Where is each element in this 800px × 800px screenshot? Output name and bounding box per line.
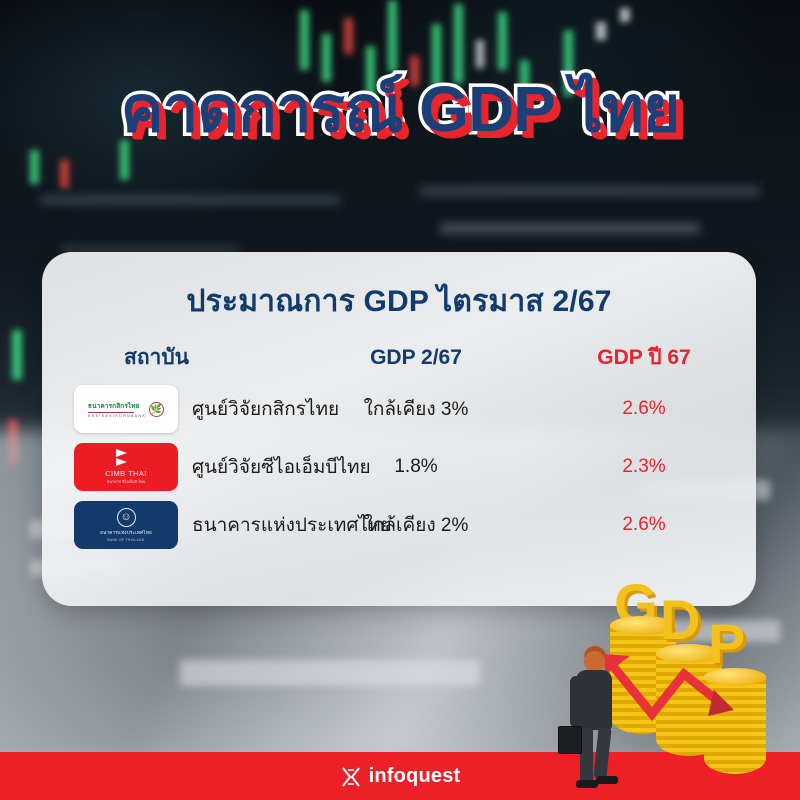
bot-logo-text-en: BANK OF THAILAND [108, 538, 145, 542]
cimb-thai-logo: CIMB THAI ธนาคาร ซีไอเอ็มบี ไทย [74, 443, 178, 491]
institution-name: ศูนย์วิจัยกสิกรไทย [192, 394, 339, 424]
cimb-logo-subtext: ธนาคาร ซีไอเอ็มบี ไทย [107, 479, 145, 485]
table-row: ☺ ธนาคารแห่งประเทศไทย BANK OF THAILAND ธ… [42, 496, 756, 554]
gdp-coins-illustration: G D P [556, 578, 800, 800]
page-title: คาดการณ์ GDP ไทย [0, 76, 800, 143]
institution-cell: CIMB THAI ธนาคาร ซีไอเอ็มบี ไทย ศูนย์วิจ… [74, 443, 300, 491]
gdp-forecast-card: ประมาณการ GDP ไตรมาส 2/67 สถาบัน GDP 2/6… [42, 252, 756, 606]
x-mark-svg [340, 766, 362, 788]
cimb-chevron-icon [116, 449, 136, 466]
table-row: CIMB THAI ธนาคาร ซีไอเอ็มบี ไทย ศูนย์วิจ… [42, 438, 756, 496]
card-title: ประมาณการ GDP ไตรมาส 2/67 [42, 278, 756, 325]
suit-arm [570, 676, 582, 728]
bot-seal-icon: ☺ [117, 508, 136, 527]
infoquest-x-icon [340, 766, 362, 788]
gdp-year-value: 2.6% [532, 380, 756, 438]
leg [593, 727, 611, 778]
briefcase [558, 726, 582, 754]
infographic-canvas: คาดการณ์ GDP ไทย ประมาณการ GDP ไตรมาส 2/… [0, 0, 800, 800]
gdp-forecast-table: สถาบัน GDP 2/67 GDP ปี 67 ธนาคารกสิกรไทย [42, 341, 756, 554]
institution-cell: ธนาคารกสิกรไทย K E S I K A S I K O R N B… [74, 385, 300, 433]
cimb-logo-text-en: THAI [128, 469, 147, 478]
candle-red [344, 18, 353, 54]
infoquest-wordmark: infoquest [369, 765, 461, 788]
head [584, 651, 605, 672]
table-header-row: สถาบัน GDP 2/67 GDP ปี 67 [42, 341, 756, 380]
businessman-figure [558, 646, 628, 796]
background-key [180, 660, 480, 686]
column-header-gdp-year: GDP ปี 67 [532, 341, 756, 380]
column-header-institution: สถาบัน [42, 341, 300, 380]
background-streak [440, 224, 700, 233]
shoe [576, 780, 598, 788]
candle-green [498, 12, 507, 70]
deity-figure-icon: ☺ [120, 512, 131, 523]
kbank-logo-inner: ธนาคารกสิกรไทย K E S I K A S I K O R N B… [88, 401, 164, 418]
candle-green [12, 330, 22, 380]
gdp-year-value: 2.6% [532, 496, 756, 554]
kbank-rule [88, 412, 134, 413]
candle-green [120, 140, 129, 180]
kbank-wordmark: ธนาคารกสิกรไทย K E S I K A S I K O R N B… [88, 401, 145, 418]
kbank-logo-text-th: ธนาคารกสิกรไทย [88, 401, 145, 411]
column-header-gdp-quarter: GDP 2/67 [300, 341, 532, 380]
gdp-year-value: 2.3% [532, 438, 756, 496]
candle-red [60, 160, 69, 188]
cimb-logo-text-th: CIMB [105, 469, 125, 478]
background-streak [420, 186, 760, 196]
kbank-seal-icon: 🌿 [149, 402, 164, 417]
candle-white [596, 22, 606, 40]
candle-green [454, 4, 463, 84]
candle-white [476, 40, 484, 68]
candle-white [620, 8, 630, 22]
bank-of-thailand-logo: ☺ ธนาคารแห่งประเทศไทย BANK OF THAILAND [74, 501, 178, 549]
candle-green [300, 10, 309, 70]
institution-name: ธนาคารแห่งประเทศไทย [192, 510, 392, 540]
leaf-icon: 🌿 [151, 405, 162, 414]
candle-green [388, 0, 397, 72]
kasikornbank-logo: ธนาคารกสิกรไทย K E S I K A S I K O R N B… [74, 385, 178, 433]
institution-name: ศูนย์วิจัยซีไอเอ็มบีไทย [192, 452, 371, 482]
background-streak [40, 196, 340, 204]
table-row: ธนาคารกสิกรไทย K E S I K A S I K O R N B… [42, 380, 756, 438]
institution-cell: ☺ ธนาคารแห่งประเทศไทย BANK OF THAILAND ธ… [74, 501, 300, 549]
kbank-logo-text-en: K E S I K A S I K O R N B A N K [88, 414, 145, 418]
candle-green [30, 150, 39, 184]
shoe [596, 776, 618, 784]
bot-logo-text-th: ธนาคารแห่งประเทศไทย [100, 530, 152, 537]
cimb-wordmark: CIMB THAI [105, 469, 147, 478]
